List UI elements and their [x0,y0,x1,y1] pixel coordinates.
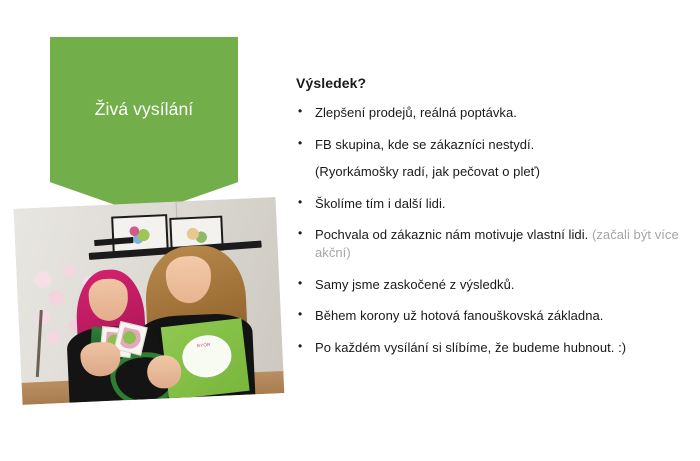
bullet-text: Během korony už hotová fanouškovská zákl… [315,308,603,323]
bullet-text: Zlepšení prodejů, reálná poptávka. [315,105,517,120]
bullet-text: Po každém vysílání si slíbíme, že budeme… [315,340,626,355]
slide-canvas: Živá vysílání RYOR [0,0,700,461]
bullet-item: Školíme tím i další lidi. [296,195,688,213]
bullet-item: Po každém vysílání si slíbíme, že budeme… [296,339,688,357]
content-heading: Výsledek? [296,74,688,92]
bullet-item: Pochvala od zákaznic nám motivuje vlastn… [296,226,688,263]
bullet-text: Pochvala od zákaznic nám motivuje vlastn… [315,227,592,242]
bullet-text: (Ryorkámošky radí, jak pečovat o pleť) [315,164,540,179]
bullet-item: Během korony už hotová fanouškovská zákl… [296,307,688,325]
bullet-text: FB skupina, kde se zákazníci nestydí. [315,137,534,152]
banner-title: Živá vysílání [50,99,238,120]
bullet-item: FB skupina, kde se zákazníci nestydí. [296,136,688,154]
bullet-item: (Ryorkámošky radí, jak pečovat o pleť) [296,163,688,181]
bullet-list: Zlepšení prodejů, reálná poptávka.FB sku… [296,104,688,357]
photo-image: RYOR [14,197,285,405]
bullet-item: Zlepšení prodejů, reálná poptávka. [296,104,688,122]
photo-two-women: RYOR [14,197,285,405]
bullet-text: Samy jsme zaskočené z výsledků. [315,277,515,292]
bullet-text: Školíme tím i další lidi. [315,196,446,211]
green-pentagon-banner: Živá vysílání [50,37,238,215]
bullet-item: Samy jsme zaskočené z výsledků. [296,276,688,294]
content-column: Výsledek? Zlepšení prodejů, reálná poptá… [296,74,688,370]
